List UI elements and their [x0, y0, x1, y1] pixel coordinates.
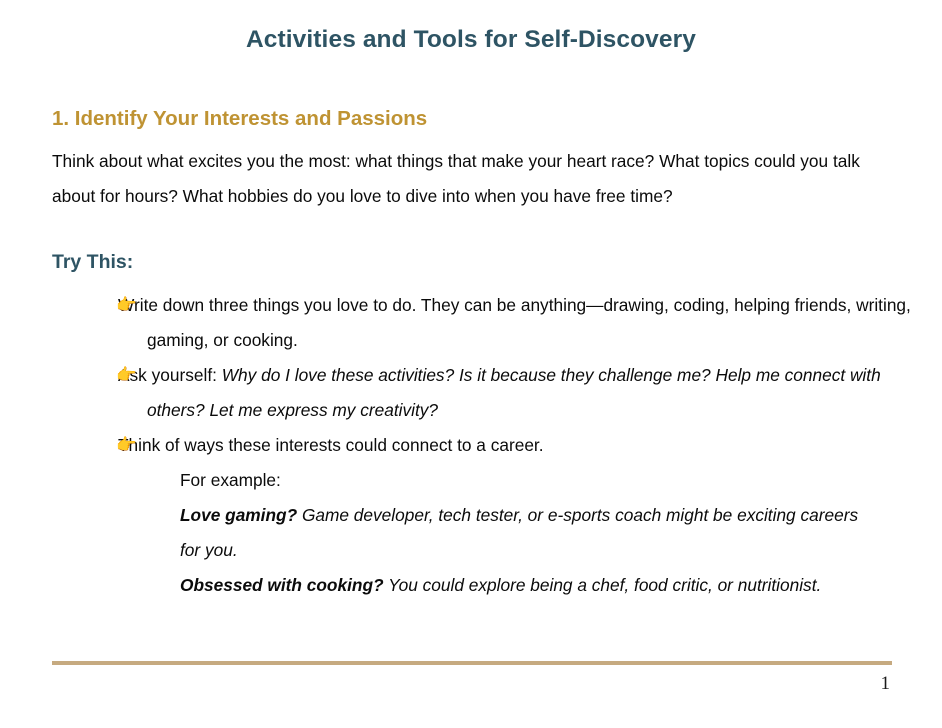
example-label: For example: [180, 463, 880, 498]
page-title: Activities and Tools for Self-Discovery [0, 25, 942, 54]
example-item: Obsessed with cooking? You could explore… [180, 568, 880, 603]
list-item-lead: Write down three things you love to do. … [118, 295, 911, 350]
list-item-emphasis: Why do I love these activities? Is it be… [147, 365, 881, 420]
list-item: 👉 Think of ways these interests could co… [52, 428, 928, 463]
list-item-lead: Think of ways these interests could conn… [118, 435, 544, 455]
pointing-right-icon: 👉 [116, 358, 146, 393]
list-item-text: Think of ways these interests could conn… [147, 428, 928, 463]
example-cue: Obsessed with cooking? [180, 575, 384, 595]
try-this-heading: Try This: [52, 251, 892, 274]
page-number: 1 [881, 673, 891, 696]
document-page: Activities and Tools for Self-Discovery … [0, 0, 942, 728]
example-cue: Love gaming? [180, 505, 297, 525]
list-item: 👉 Ask yourself: Why do I love these acti… [52, 358, 928, 428]
example-block: For example: Love gaming? Game developer… [180, 463, 880, 603]
list-item-text: Write down three things you love to do. … [147, 288, 928, 358]
intro-paragraph: Think about what excites you the most: w… [52, 144, 882, 214]
pointing-right-icon: 👉 [116, 288, 146, 323]
list-item-text: Ask yourself: Why do I love these activi… [147, 358, 928, 428]
document-body: 1. Identify Your Interests and Passions … [52, 106, 892, 603]
list-item: 👉 Write down three things you love to do… [52, 288, 928, 358]
footer-divider [52, 661, 892, 665]
section-heading: 1. Identify Your Interests and Passions [52, 106, 892, 132]
example-item: Love gaming? Game developer, tech tester… [180, 498, 880, 568]
pointing-right-icon: 👉 [116, 428, 146, 463]
example-text: You could explore being a chef, food cri… [384, 575, 822, 595]
try-this-list: 👉 Write down three things you love to do… [52, 288, 892, 463]
